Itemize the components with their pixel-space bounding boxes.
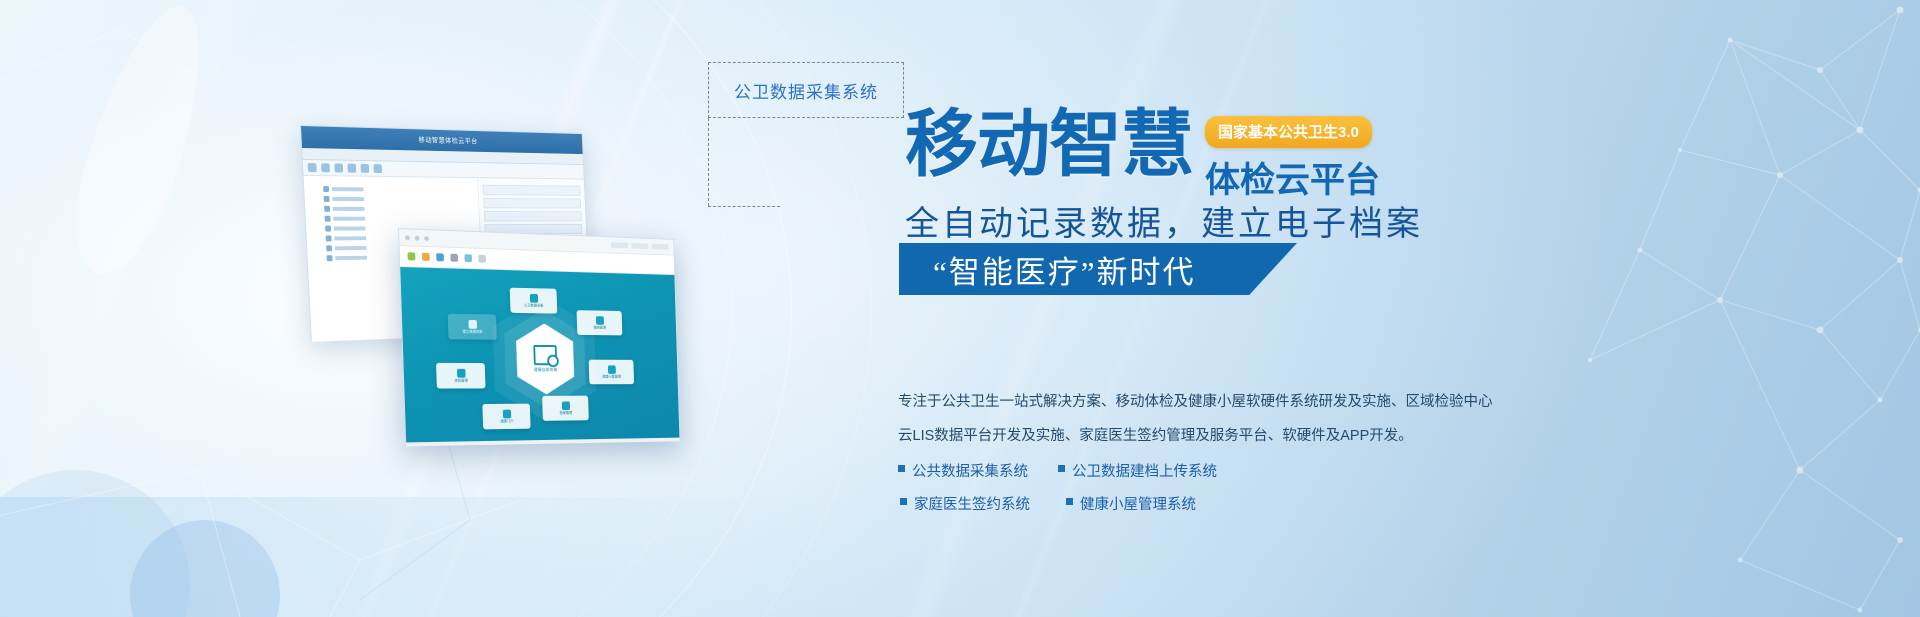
status-badge: 国家基本公共卫生3.0	[1205, 116, 1372, 148]
callout-box: 公卫数据采集系统	[708, 62, 904, 118]
toolbar-icon-blue	[436, 253, 444, 261]
node-icon	[468, 319, 477, 328]
list-item[interactable]: 健康小屋管理系统	[1058, 493, 1478, 514]
description-paragraph-1: 专注于公共卫生一站式解决方案、移动体检及健康小屋软硬件系统研发及实施、区域检验中…	[898, 392, 1478, 412]
browser-tab	[652, 244, 669, 250]
light-sweep	[866, 0, 1213, 617]
toolbar-icon	[334, 163, 343, 172]
dashboard-node: 健康门户	[482, 404, 530, 430]
decorative-blob	[130, 520, 280, 617]
tree-node-icon	[325, 226, 331, 232]
headline-ribbon: “智能医疗”新时代	[899, 243, 1297, 295]
panel-row	[483, 185, 581, 196]
window-dot-icon	[424, 235, 429, 240]
list-item[interactable]: 公卫数据建档上传系统	[1058, 460, 1478, 481]
network-graphic	[1260, 0, 1920, 617]
light-sweep	[0, 0, 284, 617]
toolbar-icon	[321, 163, 330, 172]
list-item-label: 健康小屋管理系统	[1080, 493, 1196, 514]
list-item-label: 家庭医生签约系统	[914, 493, 1030, 514]
toolbar-icon-cyan	[464, 254, 472, 262]
node-label: 体检管理	[454, 378, 468, 383]
node-icon	[561, 401, 569, 410]
toolbar-icon	[308, 163, 317, 172]
list-item-label: 公共数据采集系统	[912, 460, 1028, 481]
browser-tab	[631, 243, 648, 249]
node-icon	[595, 316, 603, 325]
node-label: 慢病管理	[593, 325, 606, 330]
tree-node-icon	[326, 245, 332, 251]
headline-tagline: 全自动记录数据，建立电子档案	[905, 196, 1423, 245]
toolbar-icon-grey	[450, 254, 458, 262]
tree-node-icon	[323, 186, 329, 192]
dashboard-canvas: 健康自助终端 公卫数据采集 慢病管理 健康小屋管理 档案管理 健康门户	[400, 267, 679, 442]
background-decoration	[0, 0, 1920, 617]
description-paragraph-2: 云LIS数据平台开发及实施、家庭医生签约管理及服务平台、软硬件及APP开发。	[898, 426, 1478, 446]
list-item-label: 公卫数据建档上传系统	[1072, 460, 1217, 481]
window-dot-icon	[415, 235, 420, 240]
tree-item	[324, 206, 474, 212]
tree-node-icon	[327, 255, 333, 261]
toolbar-icon	[373, 164, 382, 173]
tree-item	[323, 186, 473, 193]
dashboard-node: 建立健康档案	[448, 314, 497, 340]
decorative-blob	[54, 0, 226, 287]
tree-node-icon	[325, 216, 331, 222]
dashboard-node: 档案管理	[542, 396, 589, 421]
light-sweep	[976, 0, 1299, 617]
node-label: 健康小屋管理	[602, 374, 621, 379]
dashboard-node: 慢病管理	[577, 310, 623, 335]
list-item[interactable]: 家庭医生签约系统	[898, 493, 1048, 514]
dashboard-node: 体检管理	[436, 363, 485, 389]
bullet-square-icon	[1066, 498, 1073, 505]
app-title: 移动智慧体检云平台	[418, 135, 478, 146]
dashboard-node: 健康小屋管理	[589, 360, 635, 385]
node-label: 公卫数据采集	[524, 303, 544, 308]
toolbar-icon-light	[478, 255, 486, 263]
page-title: 移动智慧	[905, 108, 1193, 182]
tree-item	[324, 196, 474, 203]
window-dot-icon	[405, 235, 410, 240]
node-icon	[502, 409, 510, 418]
node-icon	[607, 365, 615, 373]
panel-row	[484, 211, 582, 221]
promo-banner: 公卫数据采集系统 移动智慧体检云平台	[0, 0, 1920, 617]
tree-item	[325, 216, 475, 222]
node-label: 档案管理	[559, 410, 572, 415]
toolbar-icon	[347, 164, 356, 173]
screenshot-cloud-dashboard: 健康自助终端 公卫数据采集 慢病管理 健康小屋管理 档案管理 健康门户	[398, 228, 680, 445]
node-label: 健康门户	[500, 419, 513, 424]
tree-node-icon	[324, 206, 330, 212]
panel-row	[483, 198, 581, 209]
callout-leader-line	[708, 118, 710, 206]
node-label: 建立健康档案	[462, 329, 482, 334]
tree-node-icon	[324, 196, 330, 202]
decorative-blob	[0, 470, 190, 617]
tree-node-icon	[326, 235, 332, 241]
bullet-square-icon	[898, 465, 905, 472]
toolbar-icon-green	[407, 252, 415, 260]
bullet-square-icon	[900, 498, 907, 505]
callout-leader-line-horizontal	[708, 206, 780, 208]
magnifier-icon	[533, 345, 557, 365]
feature-list: 公共数据采集系统 公卫数据建档上传系统 家庭医生签约系统 健康小屋管理系统	[898, 460, 1478, 514]
description-block: 专注于公共卫生一站式解决方案、移动体检及健康小屋软硬件系统研发及实施、区域检验中…	[898, 392, 1478, 514]
dashboard-node: 公卫数据采集	[510, 288, 558, 314]
node-icon	[529, 293, 537, 302]
ribbon-label: “智能医疗”新时代	[899, 247, 1196, 292]
browser-tabs	[611, 242, 669, 250]
bottom-strip	[0, 497, 820, 617]
list-item[interactable]: 公共数据采集系统	[898, 460, 1048, 481]
callout-label: 公卫数据采集系统	[734, 78, 878, 103]
bullet-square-icon	[1058, 465, 1065, 472]
node-icon	[456, 368, 465, 377]
hub-label: 健康自助终端	[534, 367, 557, 373]
toolbar-icon	[360, 164, 369, 173]
browser-tab	[611, 242, 628, 248]
toolbar-icon-orange	[422, 253, 430, 261]
